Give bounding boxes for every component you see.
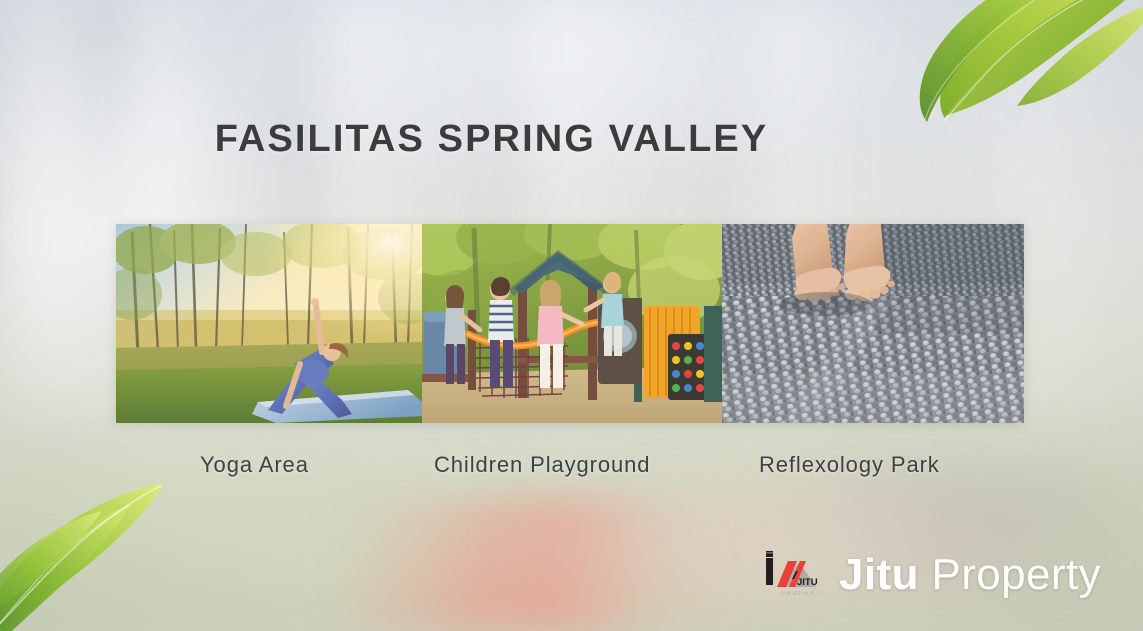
brand-lockup: JITU PROPERTY Jitu Property	[761, 549, 1101, 601]
caption-reflexology-park: Reflexology Park	[759, 452, 940, 478]
leaf-icon-bottom-left	[0, 475, 224, 631]
page-title: FASILITAS SPRING VALLEY	[0, 118, 1143, 161]
reflexology-park-photo	[722, 224, 1024, 423]
children-playground-photo	[422, 224, 722, 423]
facility-image-strip	[116, 224, 1024, 423]
brand-name-light: Property	[919, 550, 1101, 599]
jitu-property-logo-icon: JITU PROPERTY	[761, 549, 823, 601]
brand-name: Jitu Property	[839, 553, 1101, 597]
facilities-slide: FASILITAS SPRING VALLEY	[0, 0, 1143, 631]
caption-children-playground: Children Playground	[434, 452, 650, 478]
logo-jitu-text: JITU	[797, 577, 818, 588]
logo-property-text: PROPERTY	[781, 591, 823, 597]
facility-captions: Yoga Area Children Playground Reflexolog…	[116, 452, 1024, 486]
yoga-area-photo	[116, 224, 422, 423]
leaf-icon-top-right	[883, 0, 1143, 132]
caption-yoga-area: Yoga Area	[200, 452, 309, 478]
brand-name-bold: Jitu	[839, 550, 919, 599]
